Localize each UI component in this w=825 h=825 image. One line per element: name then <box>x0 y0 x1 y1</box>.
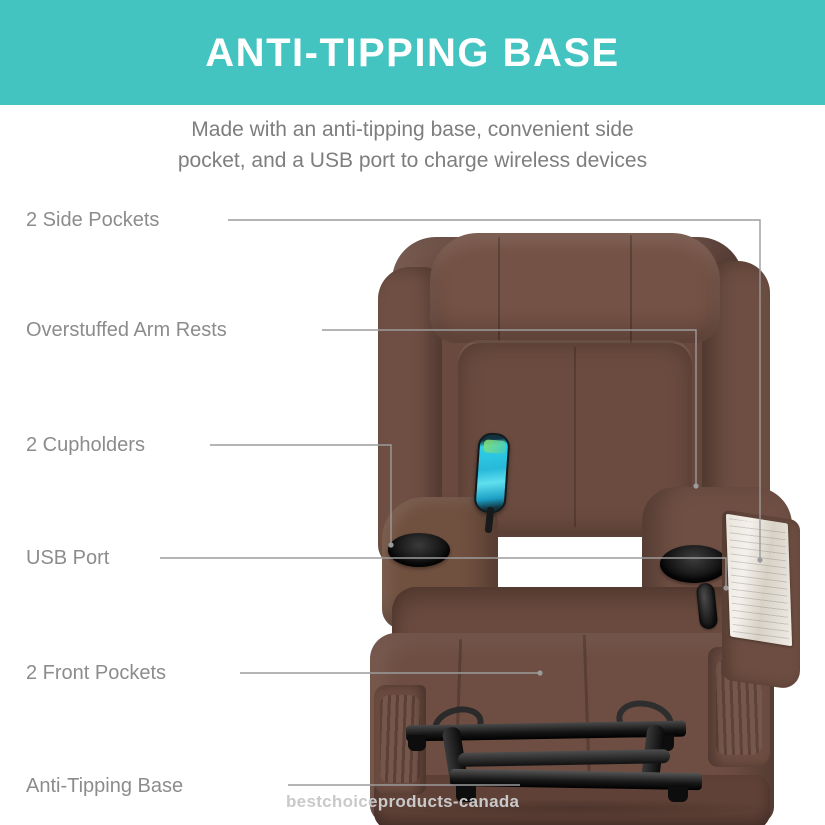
side-pocket-magazines <box>726 514 792 647</box>
subtitle-line-1: Made with an anti-tipping base, convenie… <box>0 114 825 145</box>
callout-label-arm-rests: Overstuffed Arm Rests <box>26 318 227 342</box>
infographic-page: ANTI-TIPPING BASE Made with an anti-tipp… <box>0 0 825 825</box>
subtitle-line-2: pocket, and a USB port to charge wireles… <box>0 145 825 176</box>
callout-label-side-pockets: 2 Side Pockets <box>26 208 159 232</box>
headrest-seam-left <box>498 237 500 341</box>
callout-label-front-pockets: 2 Front Pockets <box>26 661 166 685</box>
right-cupholder <box>660 545 728 583</box>
base-foot-rear-left <box>408 735 426 751</box>
subtitle-text: Made with an anti-tipping base, convenie… <box>0 114 825 176</box>
page-title: ANTI-TIPPING BASE <box>205 33 619 73</box>
callout-label-cupholders: 2 Cupholders <box>26 433 145 457</box>
left-cupholder <box>388 533 450 567</box>
lumbar-seam <box>574 347 576 527</box>
watermark: bestchoiceproducts-canada <box>286 792 519 812</box>
headrest-cushion <box>430 233 720 343</box>
remote-screen <box>483 439 506 454</box>
product-image <box>330 215 825 825</box>
callout-label-anti-tipping-base: Anti-Tipping Base <box>26 774 183 798</box>
callout-label-usb-port: USB Port <box>26 546 109 570</box>
massage-remote-control <box>473 432 511 514</box>
header-banner: ANTI-TIPPING BASE <box>0 0 825 105</box>
headrest-seam-right <box>630 235 632 343</box>
